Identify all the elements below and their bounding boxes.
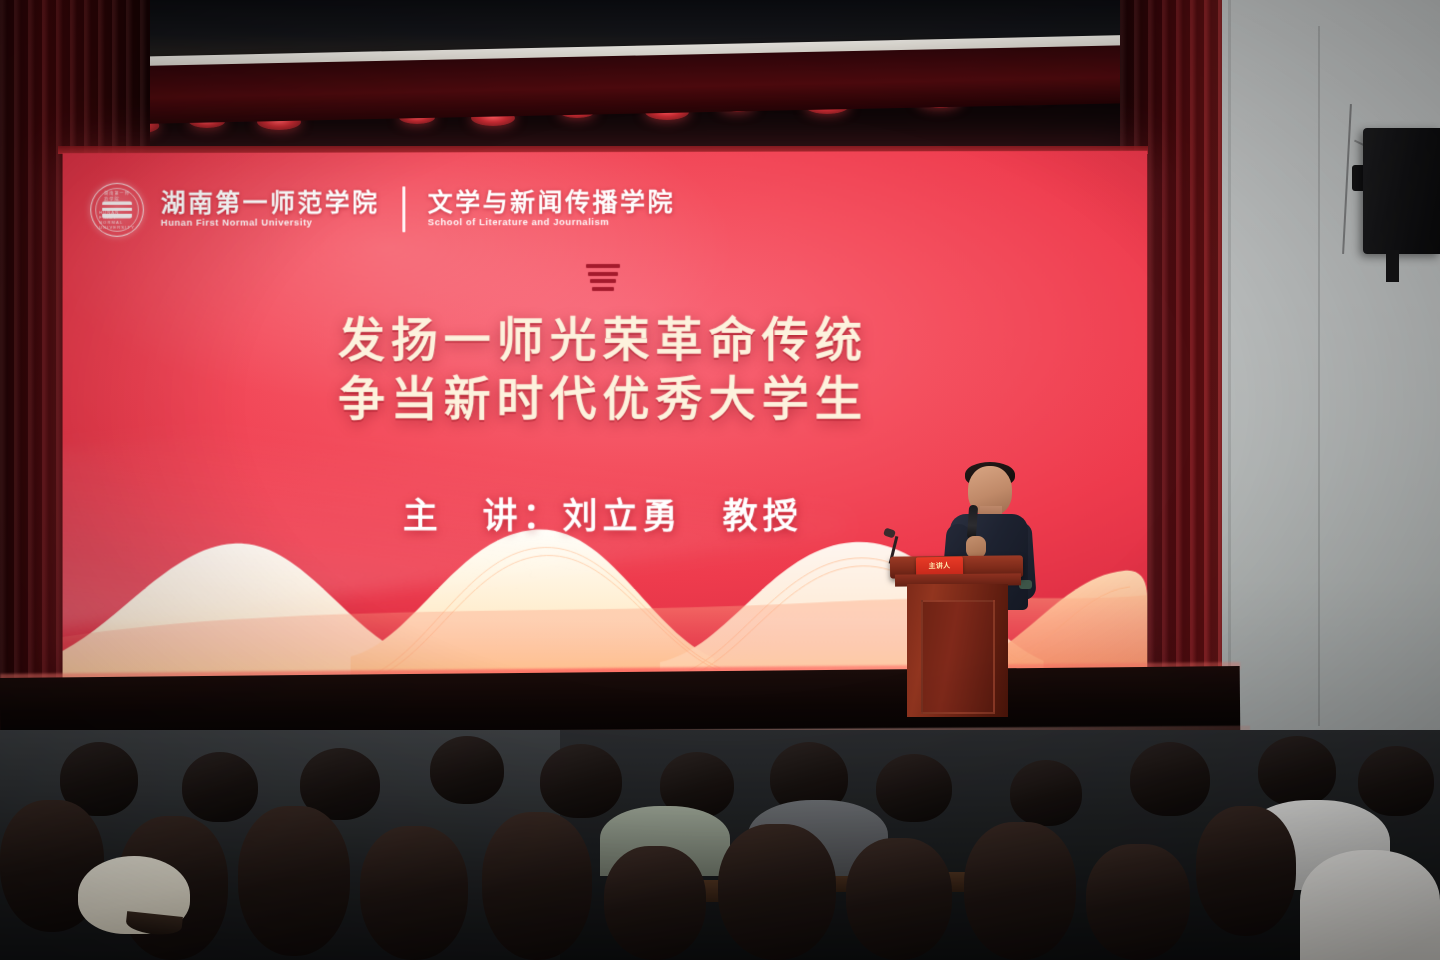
audience-head	[1010, 760, 1082, 826]
audience-head	[1130, 742, 1210, 816]
audience-head	[430, 736, 504, 804]
audience-head	[1358, 746, 1434, 816]
audience-head	[238, 806, 350, 956]
audience-shoulders	[1300, 850, 1440, 960]
stepped-book-ornament-icon	[586, 264, 620, 291]
audience-head	[846, 838, 952, 960]
audience-head	[482, 812, 592, 960]
event-title: 发扬一师光荣革命传统 争当新时代优秀大学生	[63, 310, 1148, 429]
white-baseball-cap	[78, 856, 190, 934]
university-name-cn: 湖南第一师范学院	[161, 191, 380, 216]
university-name-block: 湖南第一师范学院 Hunan First Normal University	[161, 191, 380, 228]
photo-scene: 湖南第一师范学院 HUNAN FIRST NORMAL UNIVERSITY 湖…	[0, 0, 1440, 960]
presenter-hand	[966, 536, 986, 558]
seal-bottom-text: HUNAN FIRST NORMAL UNIVERSITY	[99, 210, 135, 230]
logo-divider	[402, 186, 404, 232]
audience-head	[360, 826, 468, 960]
podium-panel	[921, 600, 995, 714]
audience-head	[964, 822, 1076, 960]
audience-head	[718, 824, 836, 960]
audience-head	[1086, 844, 1190, 960]
university-seal-icon: 湖南第一师范学院 HUNAN FIRST NORMAL UNIVERSITY	[90, 183, 144, 237]
title-line-2: 争当新时代优秀大学生	[63, 369, 1148, 428]
audience-head	[1258, 736, 1336, 806]
podium-plaque-text: 主讲人	[916, 561, 963, 572]
university-name-en: Hunan First Normal University	[161, 218, 380, 228]
pa-speaker	[1363, 128, 1440, 254]
school-name-cn: 文学与新闻传播学院	[428, 191, 675, 216]
school-name-en: School of Literature and Journalism	[428, 218, 675, 228]
logo-lockup: 湖南第一师范学院 HUNAN FIRST NORMAL UNIVERSITY 湖…	[90, 182, 675, 237]
school-name-block: 文学与新闻传播学院 School of Literature and Journ…	[428, 191, 675, 228]
audience-head	[182, 752, 258, 822]
audience-head	[540, 744, 622, 818]
title-line-1: 发扬一师光荣革命传统	[63, 310, 1148, 370]
wall-seam	[1318, 26, 1320, 726]
side-wall	[1222, 0, 1440, 742]
wall-seam	[1228, 0, 1231, 742]
audience-head	[1196, 806, 1296, 936]
speaker-pole	[1386, 250, 1399, 282]
audience-head	[604, 846, 706, 960]
audience-head	[876, 754, 952, 822]
